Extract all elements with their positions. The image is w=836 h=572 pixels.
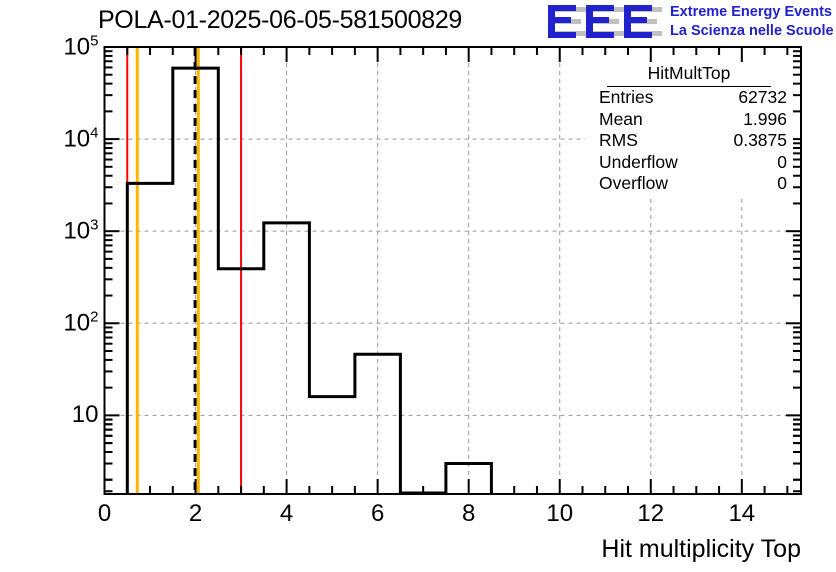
x-tick-label: 4 bbox=[280, 500, 293, 528]
stats-value: 1.996 bbox=[743, 109, 787, 131]
x-tick-label: 6 bbox=[371, 500, 384, 528]
y-tick-label: 104 bbox=[63, 125, 98, 154]
stats-key: Overflow bbox=[599, 173, 668, 195]
x-tick-label: 10 bbox=[546, 500, 573, 528]
stats-key: Entries bbox=[599, 87, 653, 109]
stats-row: Underflow0 bbox=[585, 152, 793, 174]
histogram-outline bbox=[127, 68, 491, 493]
stats-value: 62732 bbox=[738, 87, 787, 109]
stats-row: Entries62732 bbox=[585, 87, 793, 109]
stats-box-title: HitMultTop bbox=[607, 62, 771, 87]
stats-value: 0 bbox=[777, 152, 787, 174]
stats-key: Underflow bbox=[599, 152, 678, 174]
stats-value: 0.3875 bbox=[733, 130, 787, 152]
stats-key: Mean bbox=[599, 109, 643, 131]
x-tick-label: 14 bbox=[728, 500, 755, 528]
threshold-markers bbox=[127, 48, 241, 493]
stats-row: Overflow0 bbox=[585, 173, 793, 195]
y-tick-label: 105 bbox=[63, 33, 98, 62]
x-tick-label: 0 bbox=[98, 500, 111, 528]
x-axis-title: Hit multiplicity Top bbox=[601, 535, 801, 564]
y-tick-label: 102 bbox=[63, 309, 98, 338]
y-tick-label: 10 bbox=[72, 401, 99, 429]
x-tick-label: 8 bbox=[462, 500, 475, 528]
stats-row: Mean1.996 bbox=[585, 109, 793, 131]
stats-value: 0 bbox=[777, 173, 787, 195]
stats-row: RMS0.3875 bbox=[585, 130, 793, 152]
y-tick-label: 103 bbox=[63, 217, 98, 246]
stats-box: HitMultTop Entries62732Mean1.996RMS0.387… bbox=[585, 62, 793, 195]
x-tick-label: 2 bbox=[189, 500, 202, 528]
stats-key: RMS bbox=[599, 130, 638, 152]
x-tick-label: 12 bbox=[637, 500, 664, 528]
root-canvas: POLA-01-2025-06-05-581500829 bbox=[0, 0, 836, 572]
histogram-steps bbox=[127, 68, 491, 493]
